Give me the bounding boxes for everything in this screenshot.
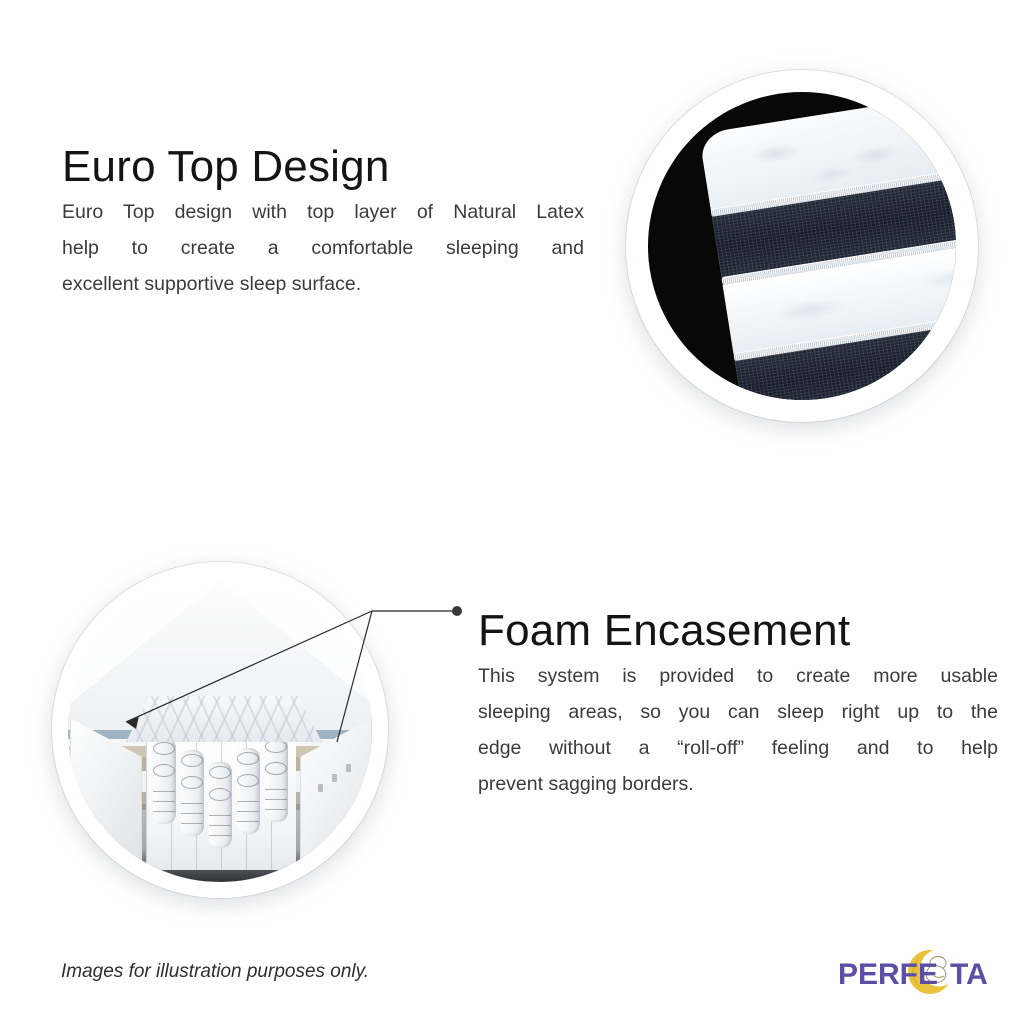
logo-text-before: PERFE: [838, 958, 938, 991]
pocketed-coil-field: [146, 728, 296, 870]
euro-top-body-text: Euro Top design with top layer of Natura…: [62, 194, 584, 302]
foam-encasement-body-text: This system is provided to create more u…: [478, 658, 998, 802]
foam-body-line-4: prevent sagging borders.: [478, 766, 998, 802]
euro-top-body-line-1: Euro Top design with top layer of Natura…: [62, 194, 584, 230]
mattress-cross-section: [693, 92, 956, 400]
pocket-coil: [236, 748, 260, 834]
perfecta-logo: PERFE TA: [838, 946, 1010, 998]
quilted-foam-surface: [126, 696, 322, 742]
pocket-coil: [264, 736, 288, 822]
logo-text-after: TA: [950, 958, 988, 991]
euro-top-body-line-2: help to create a comfortable sleeping an…: [62, 230, 584, 266]
euro-top-mattress-image: [648, 92, 956, 400]
foam-encasement-heading: Foam Encasement: [478, 607, 850, 655]
pocket-coil: [152, 738, 176, 824]
leader-bullet-dot: [452, 606, 462, 616]
foam-encasement-cutaway-image: [68, 578, 372, 882]
euro-top-heading: Euro Top Design: [62, 143, 390, 191]
illustration-disclaimer: Images for illustration purposes only.: [61, 961, 369, 983]
euro-top-body-line-3: excellent supportive sleep surface.: [62, 266, 584, 302]
pocket-coil: [208, 762, 232, 848]
foam-body-line-1: This system is provided to create more u…: [478, 658, 998, 694]
pocket-coil: [180, 750, 204, 836]
foam-body-line-3: edge without a “roll-off” feeling and to…: [478, 730, 998, 766]
foam-body-line-2: sleeping areas, so you can sleep right u…: [478, 694, 998, 730]
infographic-canvas: Euro Top Design Euro Top design with top…: [0, 0, 1020, 1021]
